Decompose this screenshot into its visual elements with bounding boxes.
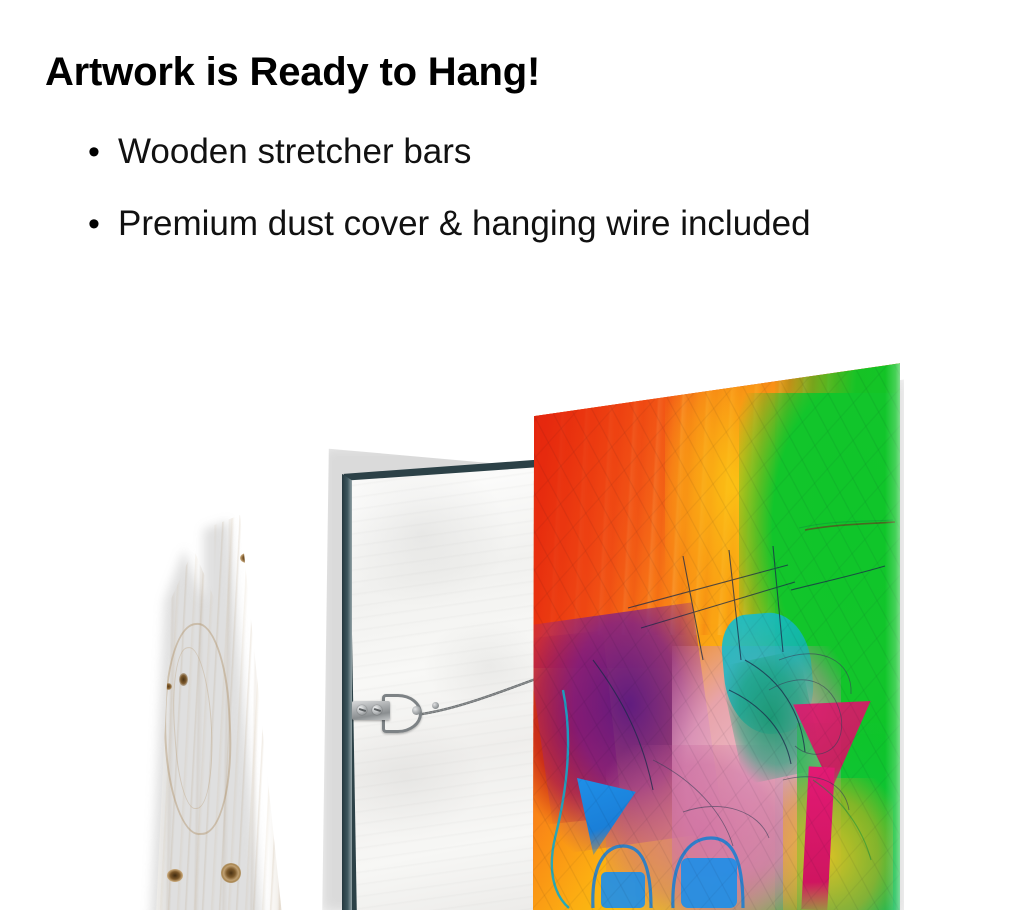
wood-knot-icon [179,673,188,686]
abstract-art-canvas [528,360,903,910]
list-item-label: Wooden stretcher bars [118,132,471,172]
list-item: • Premium dust cover & hanging wire incl… [88,204,1008,244]
wood-knot-icon [167,869,183,882]
canvas-wrap-edge [885,360,900,910]
promo-graphic: Artwork is Ready to Hang! • Wooden stret… [0,0,1024,910]
wire-crimp-icon [432,702,439,709]
screw-icon [372,705,382,715]
hanging-wire [330,440,560,910]
product-photo-scene [0,330,1024,910]
dust-cover-panel [330,440,560,910]
screw-icon [357,705,367,715]
bullet-icon: • [88,207,118,241]
art-scratch-texture [533,360,900,910]
canvas-top-edge [533,360,900,362]
canvas-surface [533,360,900,910]
list-item: • Wooden stretcher bars [88,132,1008,172]
d-ring-hanger [352,690,432,730]
list-item-label: Premium dust cover & hanging wire includ… [118,204,811,244]
bullet-icon: • [88,135,118,169]
wire-crimp-icon [412,706,421,715]
wood-knot-icon [221,863,241,883]
feature-list: • Wooden stretcher bars • Premium dust c… [88,132,1008,277]
page-title: Artwork is Ready to Hang! [45,50,540,94]
wooden-stretcher-bar [150,515,310,910]
